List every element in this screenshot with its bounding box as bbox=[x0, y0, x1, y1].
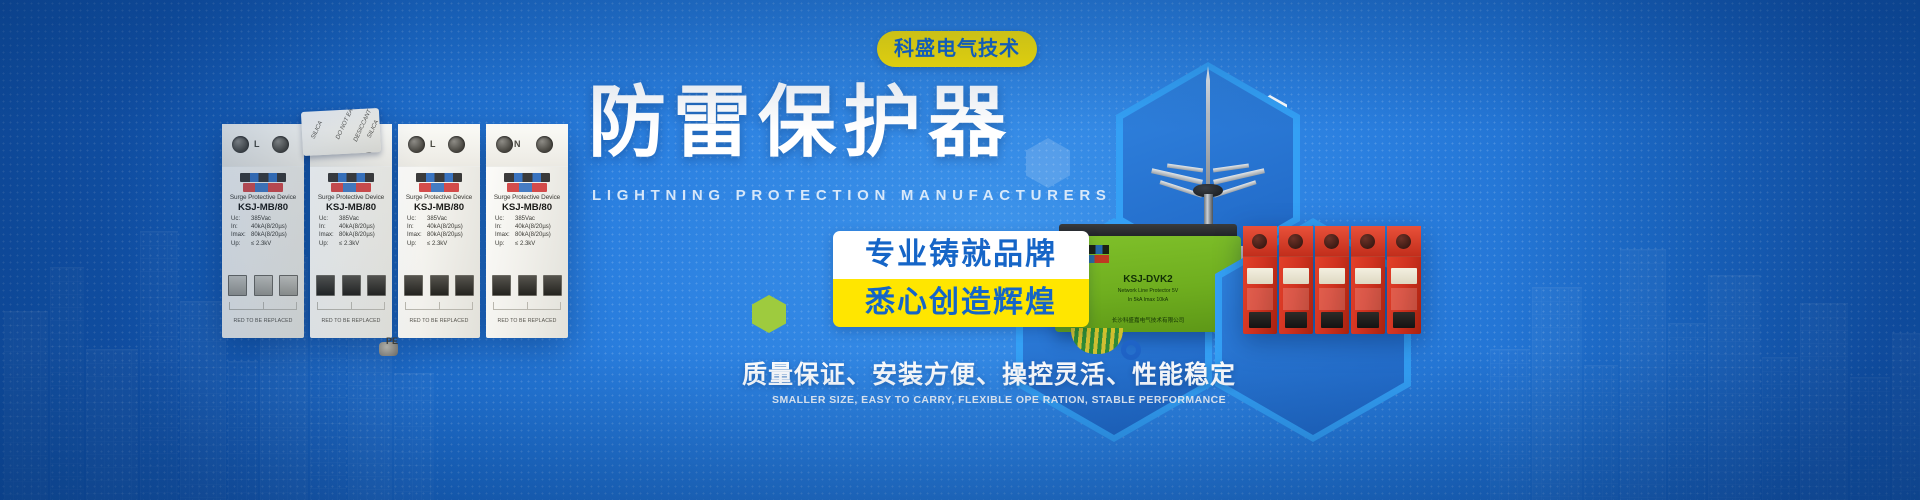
status-window bbox=[518, 275, 537, 296]
spec-value: 385Vac bbox=[339, 216, 359, 222]
brand-logo-cn bbox=[507, 183, 547, 192]
desiccant-sachet: SILICA DO NOT EAT DESICCANT SILICA bbox=[301, 108, 381, 156]
device-type-label: Surge Protective Device bbox=[490, 194, 564, 201]
replace-notice: RED TO BE REPLACED bbox=[490, 318, 564, 324]
status-window-row bbox=[228, 275, 298, 296]
slogan-box: 专业铸就品牌 悉心创造辉煌 bbox=[833, 231, 1089, 327]
spec-value: 80kA(8/20µs) bbox=[339, 232, 375, 238]
spec-value: ≤ 2.3kV bbox=[515, 241, 535, 247]
status-window bbox=[367, 275, 386, 296]
spec-value: 385Vac bbox=[427, 216, 447, 222]
model-label: KSJ-MB/80 bbox=[402, 202, 476, 213]
spd-terminal-cap: L bbox=[398, 124, 480, 167]
spec-list: Uc:385Vac In:40kA(8/20µs) Imax:80kA(8/20… bbox=[226, 215, 300, 248]
spec-list: Uc:385Vac In:40kA(8/20µs) Imax:80kA(8/20… bbox=[314, 215, 388, 248]
brand-logo-mark bbox=[328, 173, 374, 182]
spec-value: ≤ 2.3kV bbox=[251, 241, 271, 247]
red-spd-pole bbox=[1387, 226, 1421, 334]
bracket-mark bbox=[405, 302, 473, 310]
replace-notice: RED TO BE REPLACED bbox=[226, 318, 300, 324]
status-window bbox=[316, 275, 335, 296]
spd-module: N Surge Protective Device KSJ-MB/80 Uc:3… bbox=[486, 124, 568, 338]
terminal-screw-icon bbox=[232, 136, 249, 153]
slogan-row-primary: 专业铸就品牌 bbox=[833, 231, 1089, 279]
spec-key: Uc: bbox=[495, 215, 515, 223]
device-type-label: Surge Protective Device bbox=[402, 194, 476, 201]
replace-notice: RED TO BE REPLACED bbox=[314, 318, 388, 324]
replace-notice: RED TO BE REPLACED bbox=[402, 318, 476, 324]
desiccant-text: SILICA bbox=[367, 119, 380, 139]
terminal-screw-icon bbox=[448, 136, 465, 153]
slogan-row-secondary: 悉心创造辉煌 bbox=[833, 279, 1089, 327]
status-window-row bbox=[316, 275, 386, 296]
device-type-label: Surge Protective Device bbox=[314, 194, 388, 201]
red-spd-pole bbox=[1279, 226, 1313, 334]
pole-label: L bbox=[254, 139, 260, 149]
spec-value: 40kA(8/20µs) bbox=[515, 224, 551, 230]
spec-key: Imax: bbox=[319, 231, 339, 239]
bracket-mark bbox=[229, 302, 297, 310]
status-window bbox=[455, 275, 474, 296]
brand-logo-cn bbox=[419, 183, 459, 192]
status-window bbox=[279, 275, 298, 296]
red-spd-pole bbox=[1351, 226, 1385, 334]
spd-module: Surge Protective Device KSJ-MB/80 Uc:385… bbox=[310, 124, 392, 338]
brand-logo-cn bbox=[243, 183, 283, 192]
spec-key: Up: bbox=[407, 240, 427, 248]
earth-terminal-label: PE bbox=[386, 336, 398, 346]
spec-key: Uc: bbox=[319, 215, 339, 223]
brand-logo-mark bbox=[504, 173, 550, 182]
terminal-screw-icon bbox=[536, 136, 553, 153]
spec-value: 40kA(8/20µs) bbox=[339, 224, 375, 230]
status-window bbox=[543, 275, 562, 296]
spec-key: Uc: bbox=[231, 215, 251, 223]
spec-key: Imax: bbox=[407, 231, 427, 239]
spd-terminal-cap: L bbox=[222, 124, 304, 167]
pole-label: L bbox=[430, 139, 436, 149]
features-english: SMALLER SIZE, EASY TO CARRY, FLEXIBLE OP… bbox=[772, 394, 1226, 406]
brand-logo-mark bbox=[416, 173, 462, 182]
spec-value: 385Vac bbox=[515, 216, 535, 222]
features-chinese: 质量保证、安装方便、操控灵活、性能稳定 bbox=[742, 355, 1236, 391]
slogan-line-1: 专业铸就品牌 bbox=[865, 240, 1057, 270]
spec-value: 40kA(8/20µs) bbox=[251, 224, 287, 230]
red-spd-pole bbox=[1243, 226, 1277, 334]
spec-value: 80kA(8/20µs) bbox=[251, 232, 287, 238]
city-skyline-right bbox=[1490, 170, 1920, 500]
model-label: KSJ-MB/80 bbox=[490, 202, 564, 213]
spec-value: 385Vac bbox=[251, 216, 271, 222]
status-window bbox=[254, 275, 273, 296]
spec-key: Up: bbox=[231, 240, 251, 248]
brand-pill-label: 科盛电气技术 bbox=[894, 39, 1020, 59]
brand-logo-cn bbox=[331, 183, 371, 192]
spd-module: L Surge Protective Device KSJ-MB/80 Uc:3… bbox=[222, 124, 304, 338]
spec-key: Up: bbox=[319, 240, 339, 248]
device-type-label: Surge Protective Device bbox=[226, 194, 300, 201]
status-window-row bbox=[404, 275, 474, 296]
terminal-screw-icon bbox=[496, 136, 513, 153]
ground-wire bbox=[1071, 328, 1123, 354]
spec-key: In: bbox=[319, 223, 339, 231]
slogan-line-2: 悉心创造辉煌 bbox=[865, 288, 1057, 318]
bracket-mark bbox=[493, 302, 561, 310]
green-hexagon-bullet-icon bbox=[752, 295, 786, 333]
spd-module: L Surge Protective Device KSJ-MB/80 Uc:3… bbox=[398, 124, 480, 338]
spec-key: In: bbox=[231, 223, 251, 231]
desiccant-text: DO NOT EAT bbox=[335, 108, 356, 140]
desiccant-text: SILICA bbox=[311, 120, 324, 140]
terminal-screw-icon bbox=[272, 136, 289, 153]
red-spd-pole bbox=[1315, 226, 1349, 334]
bracket-mark bbox=[317, 302, 385, 310]
spec-value: 80kA(8/20µs) bbox=[515, 232, 551, 238]
pole-label: N bbox=[514, 139, 521, 149]
spec-key: Up: bbox=[495, 240, 515, 248]
status-window-row bbox=[492, 275, 562, 296]
spd-terminal-cap: N bbox=[486, 124, 568, 167]
brand-pill-badge: 科盛电气技术 bbox=[877, 31, 1037, 67]
red-spd-bank bbox=[1243, 226, 1421, 334]
spec-key: Imax: bbox=[231, 231, 251, 239]
spec-key: Uc: bbox=[407, 215, 427, 223]
spec-key: Imax: bbox=[495, 231, 515, 239]
spec-key: In: bbox=[407, 223, 427, 231]
terminal-screw-icon bbox=[408, 136, 425, 153]
spd-product-photo: L Surge Protective Device KSJ-MB/80 Uc:3… bbox=[222, 124, 570, 338]
status-window bbox=[228, 275, 247, 296]
spec-value: 40kA(8/20µs) bbox=[427, 224, 463, 230]
hexagon-decoration-small bbox=[1026, 138, 1070, 188]
status-window bbox=[342, 275, 361, 296]
page-title: 防雷保护器 bbox=[588, 78, 1008, 166]
spec-key: In: bbox=[495, 223, 515, 231]
model-label: KSJ-MB/80 bbox=[314, 202, 388, 213]
spec-value: ≤ 2.3kV bbox=[427, 241, 447, 247]
spec-value: ≤ 2.3kV bbox=[339, 241, 359, 247]
model-label: KSJ-MB/80 bbox=[226, 202, 300, 213]
status-window bbox=[492, 275, 511, 296]
spec-list: Uc:385Vac In:40kA(8/20µs) Imax:80kA(8/20… bbox=[402, 215, 476, 248]
subtitle-english: LIGHTNING PROTECTION MANUFACTURERS bbox=[592, 187, 1112, 204]
rod-spire bbox=[1206, 66, 1210, 186]
spec-list: Uc:385Vac In:40kA(8/20µs) Imax:80kA(8/20… bbox=[490, 215, 564, 248]
spec-value: 80kA(8/20µs) bbox=[427, 232, 463, 238]
status-window bbox=[404, 275, 423, 296]
status-window bbox=[430, 275, 449, 296]
brand-logo-mark bbox=[240, 173, 286, 182]
promo-banner: L Surge Protective Device KSJ-MB/80 Uc:3… bbox=[0, 0, 1920, 500]
